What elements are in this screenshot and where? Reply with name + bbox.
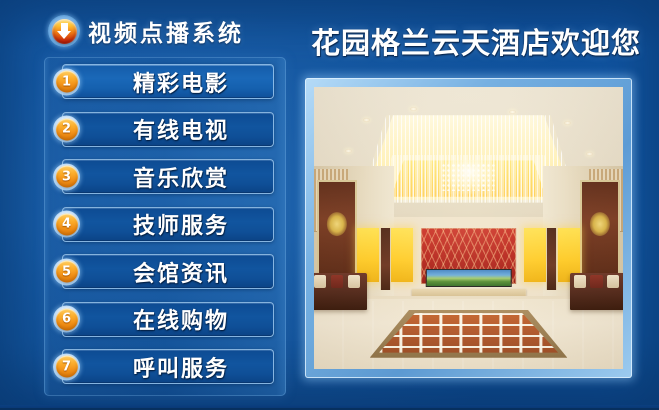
menu-item-number-badge: 7 [53, 353, 80, 380]
menu-item-number: 1 [56, 71, 78, 93]
hotel-lobby-photo-frame [305, 78, 632, 378]
vod-tv-menu-screen: 视频点播系统 花园格兰云天酒店欢迎您 1精彩电影2有线电视3音乐欣赏4技师服务5… [0, 0, 659, 410]
menu-item-number-badge: 2 [53, 116, 80, 143]
hotel-lobby-photo [314, 87, 623, 369]
menu-item-label: 会馆资讯 [63, 256, 273, 288]
menu-item-6[interactable]: 6在线购物 [62, 302, 274, 337]
menu-item-number: 4 [56, 213, 78, 235]
menu-item-number-badge: 1 [53, 68, 80, 95]
menu-item-number: 2 [56, 118, 78, 140]
menu-item-number: 6 [56, 308, 78, 330]
menu-item-label: 音乐欣赏 [63, 161, 273, 193]
menu-item-7[interactable]: 7呼叫服务 [62, 349, 274, 384]
menu-item-1[interactable]: 1精彩电影 [62, 64, 274, 99]
menu-item-number-badge: 3 [53, 163, 80, 190]
vod-system-header: 视频点播系统 [48, 14, 244, 48]
menu-item-label: 精彩电影 [63, 66, 273, 98]
menu-item-5[interactable]: 5会馆资讯 [62, 254, 274, 289]
download-icon-body [52, 19, 77, 44]
main-menu-panel: 1精彩电影2有线电视3音乐欣赏4技师服务5会馆资讯6在线购物7呼叫服务 [44, 57, 286, 396]
menu-item-label: 有线电视 [63, 113, 273, 145]
lobby-warm-tone-overlay [314, 87, 623, 369]
menu-item-3[interactable]: 3音乐欣赏 [62, 159, 274, 194]
menu-item-2[interactable]: 2有线电视 [62, 112, 274, 147]
hotel-welcome-title: 花园格兰云天酒店欢迎您 [304, 20, 648, 62]
menu-item-number: 5 [56, 261, 78, 283]
menu-item-number-badge: 6 [53, 306, 80, 333]
menu-item-label: 技师服务 [63, 208, 273, 240]
menu-item-number: 3 [56, 166, 78, 188]
menu-item-label: 在线购物 [63, 303, 273, 335]
download-circle-icon [48, 15, 80, 47]
menu-item-4[interactable]: 4技师服务 [62, 207, 274, 242]
menu-item-number: 7 [56, 356, 78, 378]
menu-item-label: 呼叫服务 [63, 351, 273, 383]
main-menu-list: 1精彩电影2有线电视3音乐欣赏4技师服务5会馆资讯6在线购物7呼叫服务 [44, 57, 286, 396]
vod-system-title: 视频点播系统 [88, 14, 244, 48]
menu-item-number-badge: 4 [53, 211, 80, 238]
menu-item-number-badge: 5 [53, 258, 80, 285]
